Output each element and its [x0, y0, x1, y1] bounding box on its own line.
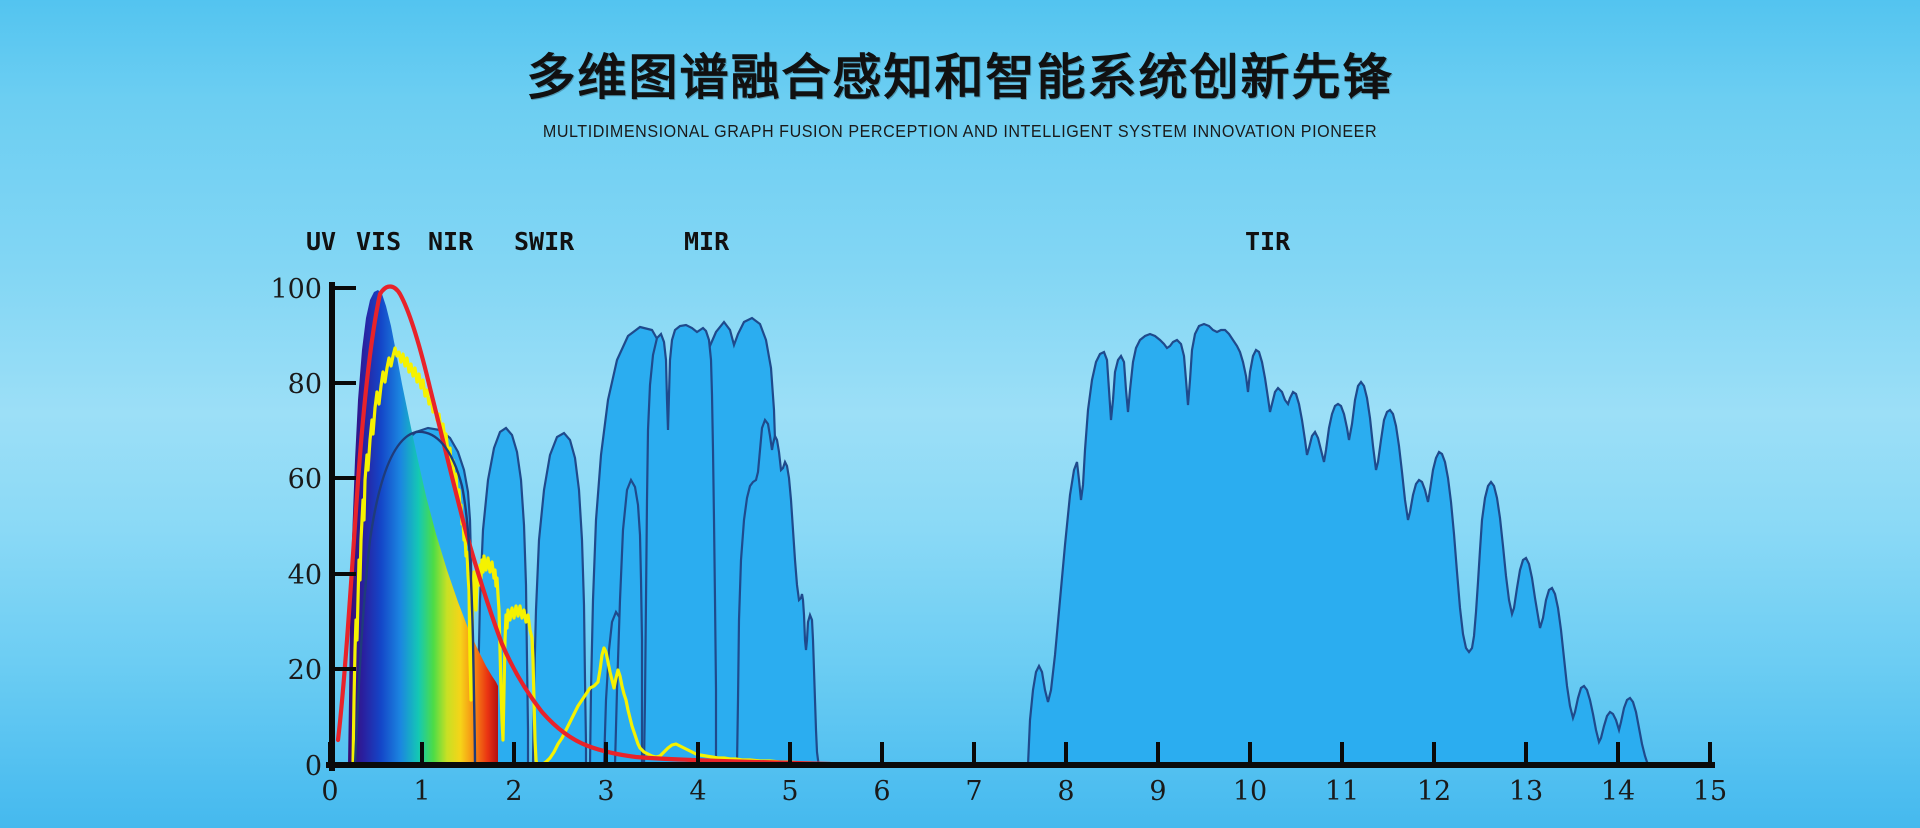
x-axis-labels: 0 1 2 3 4 5 6 7 8 9 10 11 12 13 14 15	[321, 776, 1727, 807]
spectral-chart: 100 80 60 40 20 0 0 1 2 3 4 5 6 7 8 9 10…	[0, 0, 1920, 828]
x-tick-label: 3	[597, 776, 614, 807]
band-label-mir: MIR	[684, 227, 730, 256]
band-mir-c	[644, 325, 716, 765]
band-label-tir: TIR	[1245, 227, 1291, 256]
x-tick-label: 6	[873, 776, 890, 807]
x-tick-label: 2	[505, 776, 522, 807]
y-tick-label: 100	[270, 274, 322, 305]
x-tick-label: 12	[1417, 776, 1451, 807]
x-tick-label: 13	[1509, 776, 1543, 807]
y-axis-labels: 100 80 60 40 20 0	[270, 274, 322, 782]
x-tick-label: 10	[1233, 776, 1267, 807]
x-tick-label: 15	[1693, 776, 1727, 807]
x-tick-label: 0	[321, 776, 338, 807]
y-tick-label: 40	[288, 560, 322, 591]
y-tick-label: 80	[288, 369, 322, 400]
transmission-bands	[355, 318, 1649, 765]
band-label-swir: SWIR	[514, 227, 575, 256]
x-tick-label: 1	[413, 776, 430, 807]
x-tick-label: 5	[781, 776, 798, 807]
band-tir	[1028, 324, 1649, 765]
y-tick-label: 20	[288, 655, 322, 686]
x-tick-label: 7	[965, 776, 982, 807]
y-tick-label: 0	[305, 751, 322, 782]
x-tick-label: 8	[1057, 776, 1074, 807]
x-tick-label: 11	[1325, 776, 1359, 807]
band-label-uv: UV	[306, 227, 336, 256]
x-tick-label: 4	[689, 776, 706, 807]
x-tick-label: 9	[1149, 776, 1166, 807]
band-label-vis: VIS	[356, 227, 401, 256]
band-nir-2	[533, 433, 586, 765]
x-tick-label: 14	[1601, 776, 1635, 807]
y-tick-label: 60	[288, 464, 322, 495]
band-label-nir: NIR	[428, 227, 474, 256]
band-labels: UV VIS NIR SWIR MIR TIR	[306, 227, 1291, 256]
